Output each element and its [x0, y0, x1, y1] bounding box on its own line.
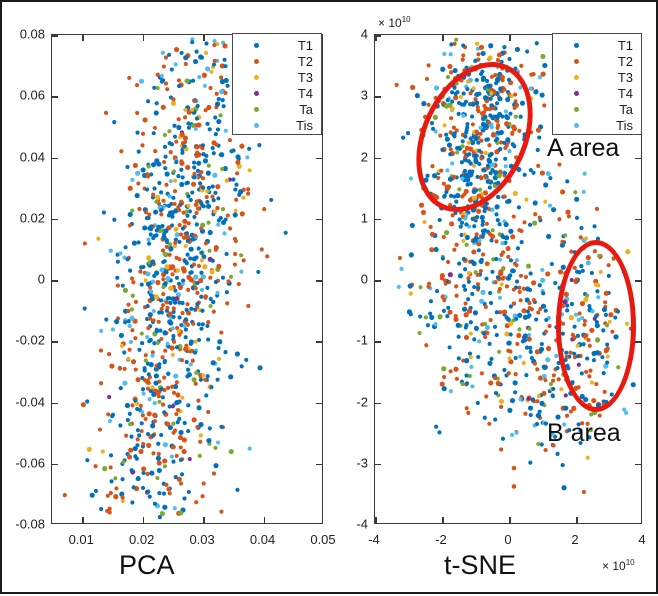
tsne-y-tick: [375, 280, 381, 282]
pca-y-tick-label: -0.06: [2, 456, 45, 469]
pca-y-tick: [52, 35, 58, 37]
tsne-x-tick-label: -4: [368, 533, 380, 546]
figure-container: 0.080.060.040.020-0.02-0.04-0.06-0.080.0…: [0, 0, 658, 594]
pca-x-tick: [203, 517, 205, 523]
tsne-y-tick-label: 4: [330, 28, 368, 41]
pca-legend-label: T2: [279, 55, 313, 68]
tsne-legend-row-t2[interactable]: T2: [553, 53, 641, 69]
tsne-legend-marker-t2-icon: [553, 59, 599, 64]
legend-dot: [574, 123, 579, 128]
tsne-x-axis-multiplier: × 1010: [602, 558, 635, 573]
pca-legend-row-t1[interactable]: T1: [233, 37, 321, 53]
b-area-ellipse: [556, 240, 636, 412]
pca-legend-row-ta[interactable]: Ta: [233, 101, 321, 117]
pca-x-tick-top: [143, 35, 145, 41]
tsne-y-axis-multiplier: × 1010: [378, 15, 411, 30]
pca-x-tick: [82, 517, 84, 523]
tsne-x-multiplier-exponent: 10: [626, 558, 635, 567]
tsne-y-tick-label: 0: [330, 273, 368, 286]
pca-y-tick-label: -0.08: [2, 518, 45, 531]
tsne-y-tick: [375, 403, 381, 405]
pca-y-tick: [52, 158, 58, 160]
pca-y-tick-right: [316, 280, 322, 282]
pca-legend-marker-t4-icon: [233, 91, 279, 96]
pca-legend-row-t2[interactable]: T2: [233, 53, 321, 69]
tsne-x-tick: [576, 517, 578, 523]
legend-dot: [254, 59, 259, 64]
tsne-legend-row-t1[interactable]: T1: [553, 37, 641, 53]
b-area-label: B area: [547, 419, 621, 448]
tsne-y-tick-right: [635, 280, 641, 282]
pca-legend-label: T4: [279, 87, 313, 100]
a-area-label: A area: [547, 134, 619, 163]
tsne-legend-marker-t3-icon: [553, 75, 599, 80]
pca-x-tick-top: [82, 35, 84, 41]
pca-legend-row-t4[interactable]: T4: [233, 85, 321, 101]
tsne-x-tick-top: [509, 35, 511, 41]
tsne-legend-label: T3: [599, 71, 633, 84]
tsne-legend-marker-t4-icon: [553, 91, 599, 96]
legend-dot: [574, 75, 579, 80]
legend-dot: [574, 107, 579, 112]
pca-y-tick-label: 0.02: [2, 211, 45, 224]
tsne-x-tick-top: [442, 35, 444, 41]
tsne-x-tick-label: 4: [638, 533, 645, 546]
pca-y-tick: [52, 219, 58, 221]
legend-dot: [574, 91, 579, 96]
legend-dot: [254, 91, 259, 96]
tsne-y-tick-right: [635, 341, 641, 343]
tsne-y-multiplier-text: × 10: [378, 16, 402, 30]
tsne-y-tick: [375, 464, 381, 466]
tsne-x-tick: [509, 517, 511, 523]
pca-y-tick: [52, 403, 58, 405]
legend-dot: [574, 43, 579, 48]
tsne-legend-label: T4: [599, 87, 633, 100]
pca-legend-marker-ta-icon: [233, 107, 279, 112]
pca-y-tick-label: 0.08: [2, 28, 45, 41]
tsne-y-tick: [375, 96, 381, 98]
tsne-legend-row-tis[interactable]: Tis: [553, 117, 641, 133]
pca-caption: PCA: [119, 550, 175, 581]
tsne-x-tick-label: 0: [504, 533, 511, 546]
tsne-y-tick-label: -4: [330, 518, 368, 531]
pca-legend-label: Ta: [279, 103, 313, 116]
tsne-y-tick-label: 3: [330, 89, 368, 102]
pca-x-tick-label: 0.02: [129, 533, 154, 546]
legend-dot: [254, 123, 259, 128]
pca-y-tick: [52, 464, 58, 466]
tsne-y-tick: [375, 158, 381, 160]
pca-x-tick-label: 0.01: [69, 533, 94, 546]
tsne-y-multiplier-exponent: 10: [402, 15, 411, 24]
legend-dot: [574, 59, 579, 64]
tsne-legend-label: T2: [599, 55, 633, 68]
tsne-legend-label: T1: [599, 39, 633, 52]
pca-x-tick: [264, 517, 266, 523]
tsne-legend: T1T2T3T4TaTis: [552, 33, 642, 135]
legend-dot: [254, 75, 259, 80]
tsne-x-tick: [442, 517, 444, 523]
tsne-caption: t-SNE: [444, 550, 516, 581]
pca-y-tick-label: 0.04: [2, 150, 45, 163]
tsne-x-multiplier-text: × 10: [602, 559, 626, 573]
pca-legend: T1T2T3T4TaTis: [232, 33, 322, 135]
tsne-y-tick-right: [635, 219, 641, 221]
pca-y-tick: [52, 280, 58, 282]
pca-y-tick-label: 0.06: [2, 89, 45, 102]
legend-dot: [254, 43, 259, 48]
pca-x-tick-label: 0.03: [189, 533, 214, 546]
tsne-x-tick-label: 2: [571, 533, 578, 546]
pca-legend-row-tis[interactable]: Tis: [233, 117, 321, 133]
pca-legend-marker-t2-icon: [233, 59, 279, 64]
pca-y-tick-right: [316, 464, 322, 466]
pca-y-tick-label: 0: [2, 273, 45, 286]
tsne-panel: 43210-1-2-3-4-4-2024 × 1010 × 1010 T1T2T…: [330, 2, 658, 596]
pca-legend-label: T3: [279, 71, 313, 84]
tsne-legend-marker-tis-icon: [553, 123, 599, 128]
tsne-x-tick-label: -2: [435, 533, 447, 546]
tsne-x-tick: [375, 517, 377, 523]
tsne-y-tick-label: -1: [330, 334, 368, 347]
tsne-legend-row-ta[interactable]: Ta: [553, 101, 641, 117]
pca-legend-marker-t1-icon: [233, 43, 279, 48]
pca-legend-marker-tis-icon: [233, 123, 279, 128]
tsne-x-tick-top: [375, 35, 377, 41]
tsne-y-tick-label: -2: [330, 395, 368, 408]
pca-y-tick-right: [316, 219, 322, 221]
pca-x-tick: [143, 517, 145, 523]
pca-y-tick: [52, 341, 58, 343]
pca-y-tick-label: -0.04: [2, 395, 45, 408]
pca-legend-label: Tis: [279, 119, 313, 132]
pca-legend-label: T1: [279, 39, 313, 52]
pca-y-tick-right: [316, 158, 322, 160]
pca-y-tick: [52, 96, 58, 98]
tsne-legend-label: Tis: [599, 119, 633, 132]
pca-panel: 0.080.060.040.020-0.02-0.04-0.06-0.080.0…: [2, 2, 332, 596]
tsne-y-tick-right: [635, 464, 641, 466]
pca-x-tick-top: [203, 35, 205, 41]
tsne-legend-label: Ta: [599, 103, 633, 116]
tsne-y-tick: [375, 341, 381, 343]
pca-y-tick-right: [316, 403, 322, 405]
tsne-legend-row-t3[interactable]: T3: [553, 69, 641, 85]
tsne-legend-marker-ta-icon: [553, 107, 599, 112]
pca-y-tick-label: -0.02: [2, 334, 45, 347]
pca-x-tick-label: 0.04: [250, 533, 275, 546]
tsne-y-tick-label: 2: [330, 150, 368, 163]
pca-y-tick-right: [316, 341, 322, 343]
tsne-legend-row-t4[interactable]: T4: [553, 85, 641, 101]
tsne-y-tick: [375, 219, 381, 221]
pca-legend-marker-t3-icon: [233, 75, 279, 80]
pca-legend-row-t3[interactable]: T3: [233, 69, 321, 85]
tsne-y-tick-right: [635, 403, 641, 405]
tsne-y-tick-right: [635, 158, 641, 160]
tsne-y-tick-label: -3: [330, 456, 368, 469]
tsne-legend-marker-t1-icon: [553, 43, 599, 48]
legend-dot: [254, 107, 259, 112]
tsne-y-tick-label: 1: [330, 211, 368, 224]
